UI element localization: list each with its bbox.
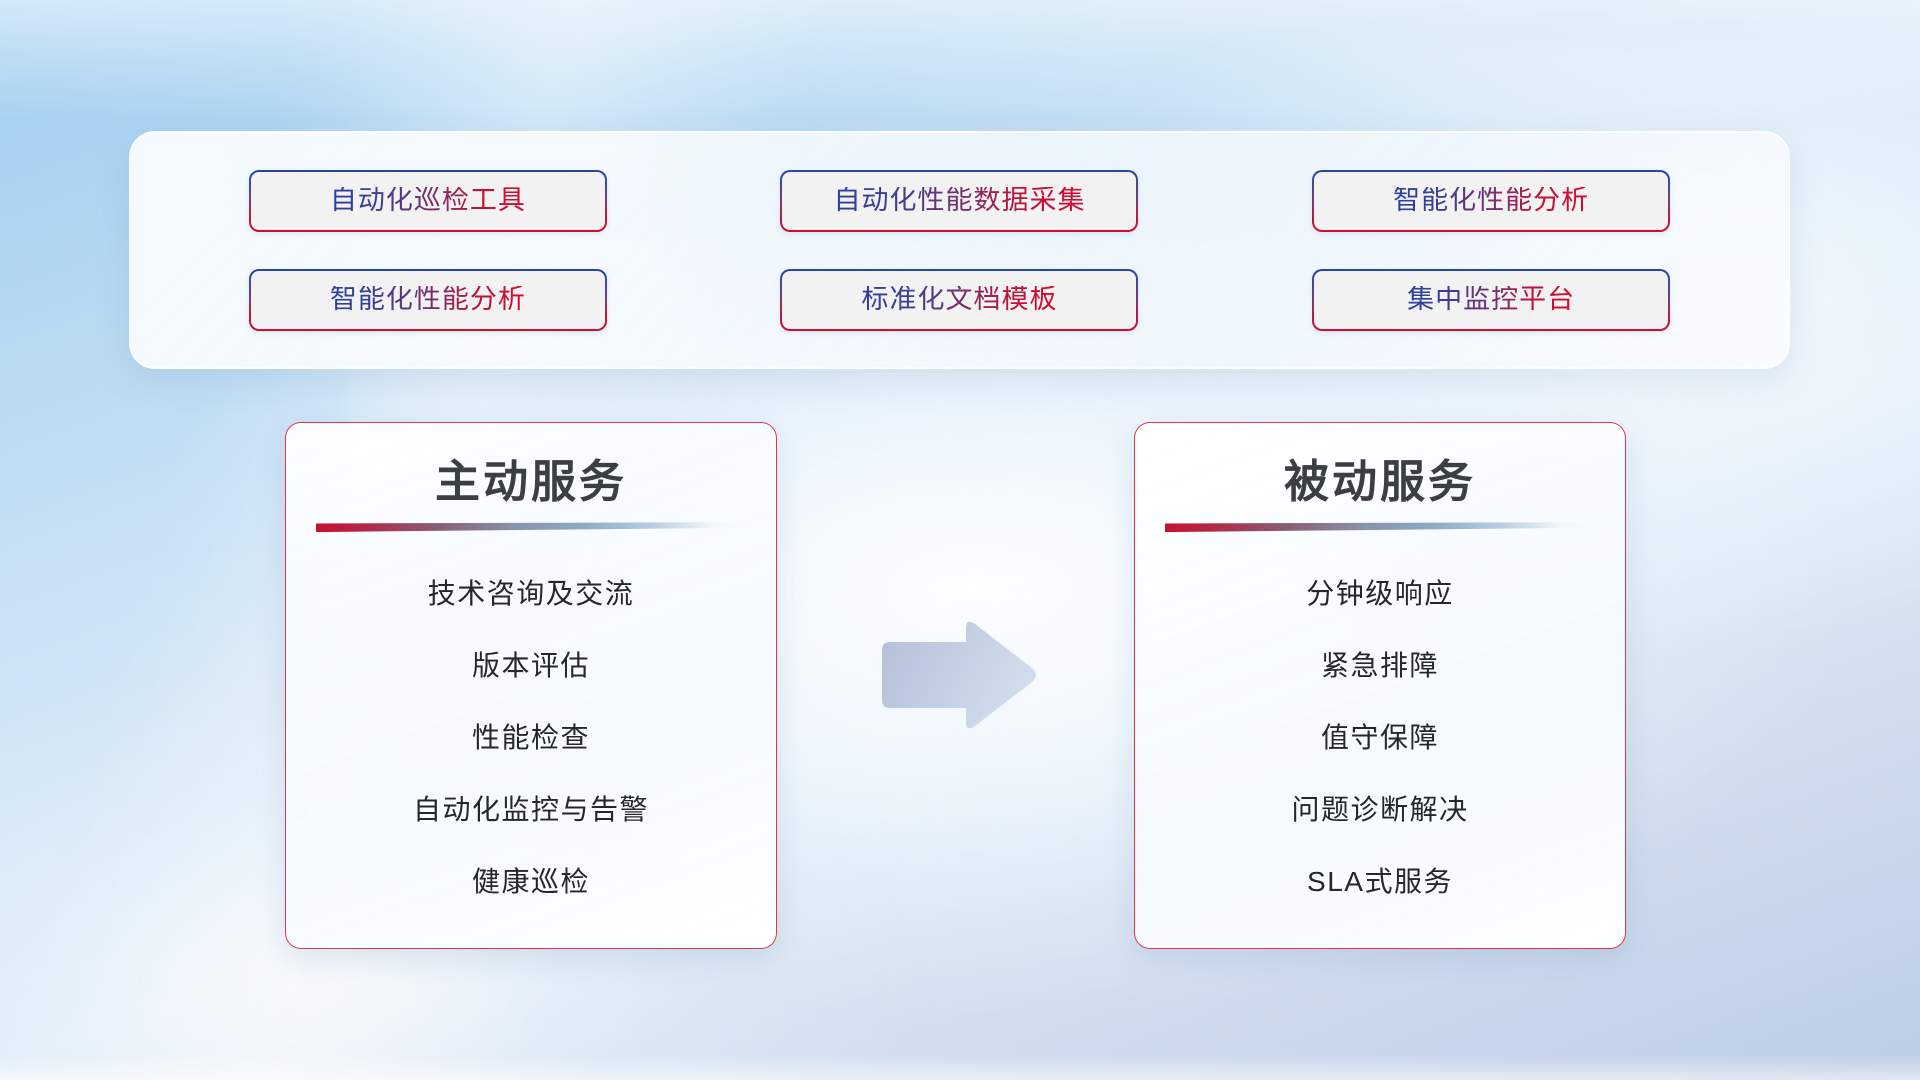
capability-pill-5[interactable]: 标准化文档模板 — [780, 269, 1138, 331]
capability-pill-label: 标准化文档模板 — [861, 286, 1057, 313]
capability-pill-1[interactable]: 自动化巡检工具 — [249, 170, 607, 232]
capability-panel: 自动化巡检工具 自动化性能数据采集 智能化性能分析 智能化性能分析 标准化文档模… — [129, 131, 1790, 369]
diagram-canvas: 自动化巡检工具 自动化性能数据采集 智能化性能分析 智能化性能分析 标准化文档模… — [0, 0, 1920, 1080]
service-list-item: 紧急排障 — [1135, 638, 1625, 694]
service-list-item: 问题诊断解决 — [1135, 782, 1625, 838]
capability-pill-4[interactable]: 智能化性能分析 — [249, 269, 607, 331]
service-list-item: 值守保障 — [1135, 710, 1625, 766]
service-list-item: 健康巡检 — [286, 854, 776, 910]
service-item-list: 技术咨询及交流 版本评估 性能检查 自动化监控与告警 健康巡检 — [286, 566, 776, 910]
service-card-title: 主动服务 — [286, 423, 776, 508]
arrow-right-icon — [870, 616, 1040, 734]
capability-pill-label: 智能化性能分析 — [1393, 187, 1589, 214]
capability-pill-grid: 自动化巡检工具 自动化性能数据采集 智能化性能分析 智能化性能分析 标准化文档模… — [130, 132, 1789, 368]
service-card-passive: 被动服务 分钟级响应 紧急排障 值守保障 问题诊断解决 SLA式服务 — [1134, 422, 1626, 949]
service-list-item: 版本评估 — [286, 638, 776, 694]
service-list-item: 自动化监控与告警 — [286, 782, 776, 838]
capability-pill-6[interactable]: 集中监控平台 — [1312, 269, 1670, 331]
service-list-item: 分钟级响应 — [1135, 566, 1625, 622]
capability-pill-label: 集中监控平台 — [1407, 286, 1575, 313]
service-item-list: 分钟级响应 紧急排障 值守保障 问题诊断解决 SLA式服务 — [1135, 566, 1625, 910]
service-list-item: SLA式服务 — [1135, 854, 1625, 910]
title-underline-rule — [1165, 522, 1595, 532]
capability-pill-3[interactable]: 智能化性能分析 — [1312, 170, 1670, 232]
capability-pill-2[interactable]: 自动化性能数据采集 — [780, 170, 1138, 232]
capability-pill-label: 自动化性能数据采集 — [833, 187, 1085, 214]
service-card-active: 主动服务 技术咨询及交流 版本评估 性能检查 自动化监控与告警 健康巡检 — [285, 422, 777, 949]
title-underline-rule — [316, 522, 746, 532]
service-list-item: 性能检查 — [286, 710, 776, 766]
service-list-item: 技术咨询及交流 — [286, 566, 776, 622]
capability-pill-label: 自动化巡检工具 — [330, 187, 526, 214]
service-card-title: 被动服务 — [1135, 423, 1625, 508]
capability-pill-label: 智能化性能分析 — [330, 286, 526, 313]
background-top-highlight — [0, 0, 1920, 120]
background-bottom-highlight — [0, 1054, 1920, 1080]
